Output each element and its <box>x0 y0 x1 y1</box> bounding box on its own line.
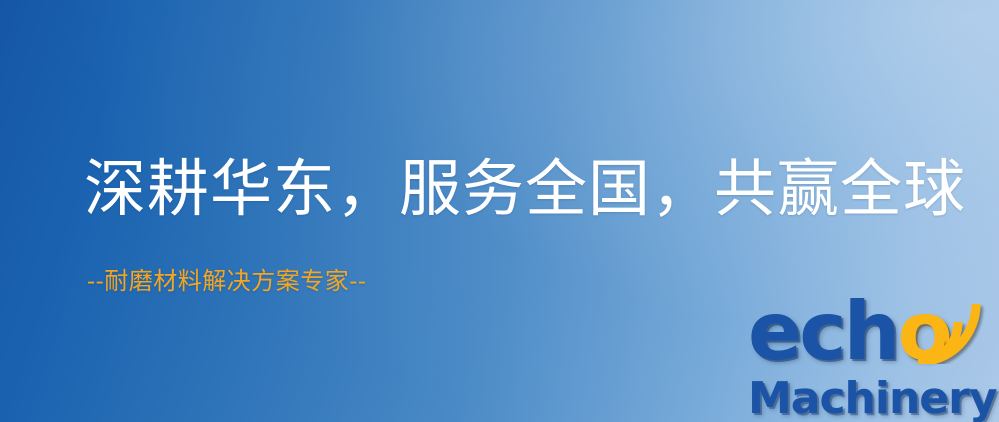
logo-wordmark-blue: ech <box>748 285 898 378</box>
logo-tagline-text: Machinery <box>748 373 997 422</box>
signal-waves-icon <box>916 292 999 364</box>
logo-tagline: Machinery® <box>748 368 999 422</box>
echo-machinery-logo: echo Machinery® <box>748 290 999 422</box>
banner-subtitle: --耐磨材料解决方案专家-- <box>87 265 366 297</box>
banner-headline: 深耕华东，服务全国，共赢全球 <box>84 152 966 226</box>
promo-banner: 深耕华东，服务全国，共赢全球 --耐磨材料解决方案专家-- echo Machi… <box>0 0 999 422</box>
